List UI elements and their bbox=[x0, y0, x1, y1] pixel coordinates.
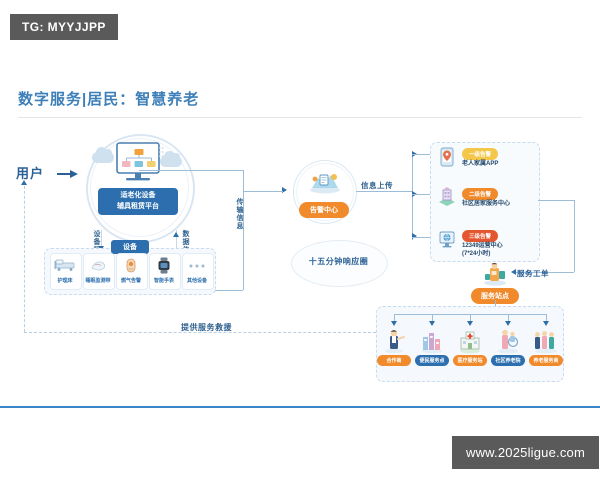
footer-divider bbox=[0, 406, 600, 408]
devices-group-title: 设备 bbox=[111, 240, 149, 254]
mobile-app-icon bbox=[437, 146, 457, 168]
provider-arrowhead bbox=[467, 321, 473, 326]
sleep-monitor-icon bbox=[83, 256, 113, 275]
edge-return-arrowhead bbox=[21, 180, 27, 185]
device-label: 睡眠监测带 bbox=[83, 277, 113, 284]
edge-label-work-order: 服务工单 bbox=[517, 268, 549, 279]
device-label: 其他设备 bbox=[182, 277, 212, 284]
edge-tier2-line bbox=[412, 194, 430, 195]
edge-label-provide-rescue: 提供服务救援 bbox=[181, 322, 232, 333]
diagram-page: TG: MYYJJPP www.2025ligue.com 数字服务|居民：智慧… bbox=[0, 0, 600, 480]
gas-alarm-icon bbox=[116, 256, 146, 275]
watermark-top: TG: MYYJJPP bbox=[10, 14, 118, 40]
edge-transmit-vertical bbox=[243, 170, 244, 290]
tier-name: 社区居家服务中心 bbox=[462, 200, 510, 208]
platform-label: 适老化设备 辅具租赁平台 bbox=[98, 188, 178, 215]
tier-badge: 三级告警 bbox=[462, 230, 498, 242]
provider-arrowhead bbox=[429, 321, 435, 326]
page-title: 数字服务|居民：智慧养老 bbox=[18, 88, 199, 109]
convenience-point-icon bbox=[418, 328, 446, 354]
edge-label-info-upload: 信息上传 bbox=[361, 180, 393, 191]
response-circle-label: 十五分钟响应圈 bbox=[291, 256, 386, 267]
edge-transmit-to-ac bbox=[243, 191, 283, 192]
edge-transmit-bottom bbox=[215, 290, 243, 291]
provider-arrowhead bbox=[543, 321, 549, 326]
alert-center-icon bbox=[306, 170, 344, 194]
edge-workorder-top bbox=[538, 200, 574, 201]
tier-badge: 二级告警 bbox=[462, 188, 498, 200]
other-devices-icon bbox=[182, 256, 212, 275]
edge-transmit-top bbox=[139, 170, 243, 171]
service-worker-icon bbox=[480, 262, 510, 286]
watermark-bottom: www.2025ligue.com bbox=[452, 436, 599, 469]
provider-label: 养老服务商 bbox=[529, 355, 563, 366]
provider-label: 社区养老院 bbox=[491, 355, 525, 366]
edge-tier1-line bbox=[412, 154, 430, 155]
provider-arrowhead bbox=[391, 321, 397, 326]
partner-person-icon bbox=[380, 328, 408, 354]
alert-center-label: 告警中心 bbox=[299, 202, 349, 218]
smart-watch-icon bbox=[149, 256, 179, 275]
edge-info-upload-bus bbox=[412, 154, 413, 240]
provider-label: 便民服务点 bbox=[415, 355, 449, 366]
title-divider bbox=[18, 117, 582, 118]
edge-label-transmit-info: 传输信息 bbox=[234, 198, 244, 230]
tier-badge: 一级告警 bbox=[462, 148, 498, 160]
edge-return-vertical bbox=[24, 186, 25, 332]
device-label: 燃气告警 bbox=[116, 277, 146, 284]
tier-name: 12349运营中心 (7*24小时) bbox=[462, 242, 503, 258]
device-label: 护理床 bbox=[50, 277, 80, 284]
monitor-icon bbox=[107, 142, 169, 186]
provider-label: 合作商 bbox=[377, 355, 411, 366]
edge-workorder-vertical bbox=[574, 200, 575, 272]
care-bed-icon bbox=[50, 256, 80, 275]
operations-center-icon bbox=[437, 228, 457, 250]
provider-arrowhead bbox=[505, 321, 511, 326]
device-label: 智能手表 bbox=[149, 277, 179, 284]
nursing-home-icon bbox=[494, 328, 522, 354]
tier-name: 老人家属APP bbox=[462, 160, 498, 168]
edge-data-transfer-arrowhead bbox=[173, 232, 179, 237]
edge-tier3-line bbox=[412, 237, 430, 238]
community-center-icon bbox=[437, 186, 457, 208]
eldercare-provider-icon bbox=[532, 328, 560, 354]
user-arrow-icon bbox=[57, 168, 79, 180]
provider-label: 医疗服务站 bbox=[453, 355, 487, 366]
edge-workorder-arrowhead bbox=[511, 269, 516, 275]
medical-station-icon bbox=[456, 328, 484, 354]
